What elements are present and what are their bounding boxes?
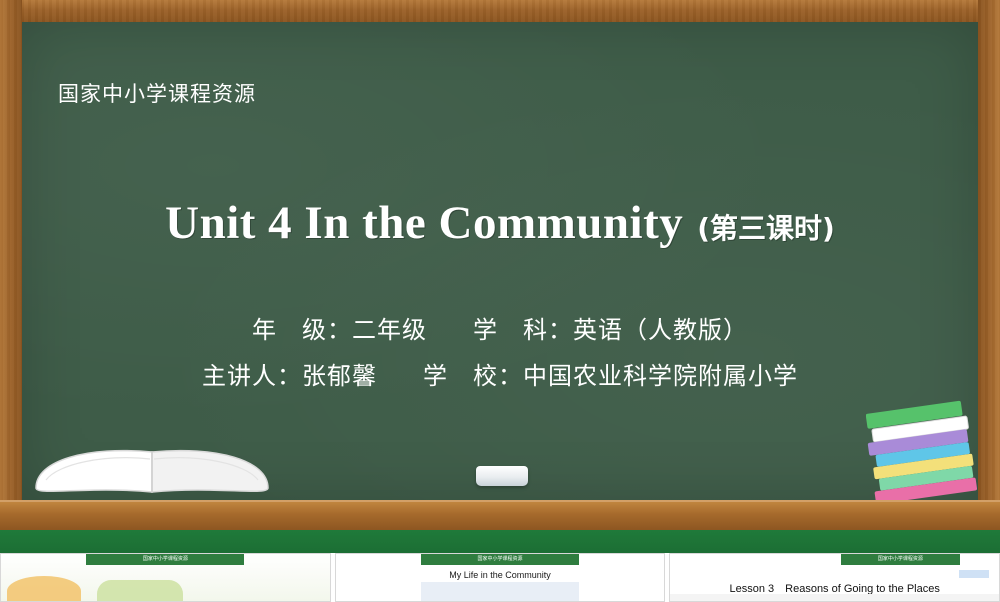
- wood-grain-texture: [0, 0, 1000, 22]
- grade-value: 二年级: [352, 316, 427, 344]
- teacher-label: 主讲人：: [202, 362, 302, 390]
- bottom-green-strip: [0, 530, 1000, 553]
- chalk-tray: [0, 500, 1000, 532]
- subject-value: 英语（人教版）: [573, 316, 748, 344]
- slide-canvas: 国家中小学课程资源 Unit 4 In the Community(第三课时) …: [0, 0, 1000, 553]
- thumbnail-decor-shape: [959, 570, 989, 578]
- chalk-eraser-icon: [476, 466, 528, 486]
- slide-meta-grade-subject: 年 级：二年级学 科：英语（人教版）: [0, 310, 1000, 345]
- brand-label: 国家中小学课程资源: [58, 78, 256, 108]
- thumbnail-decor-shape: [97, 580, 183, 602]
- thumbnail-decor-shape: [7, 576, 81, 602]
- open-book-icon: [28, 418, 288, 500]
- slide-thumbnail[interactable]: 国家中小学课程资源 My Life in the Community: [335, 553, 666, 602]
- slide-thumbnail-strip[interactable]: 国家中小学课程资源 国家中小学课程资源 My Life in the Commu…: [0, 553, 1000, 600]
- grade-label: 年 级：: [252, 316, 352, 344]
- slide-meta-teacher-school: 主讲人：张郁馨学 校：中国农业科学院附属小学: [0, 356, 1000, 391]
- school-label: 学 校：: [423, 362, 523, 390]
- thumbnail-banner: 国家中小学课程资源: [86, 554, 244, 565]
- slide-title: Unit 4 In the Community(第三课时): [0, 196, 1000, 250]
- slide-title-main: Unit 4 In the Community: [165, 197, 683, 249]
- blackboard-frame-top: [0, 0, 1000, 22]
- school-value: 中国农业科学院附属小学: [523, 362, 798, 390]
- wood-grain-texture: [0, 0, 22, 500]
- thumbnail-image-placeholder: [421, 582, 579, 601]
- thumbnail-banner: 国家中小学课程资源: [841, 554, 959, 565]
- blackboard-frame-left: [0, 0, 22, 500]
- slide-thumbnail[interactable]: 国家中小学课程资源 Lesson 3 Reasons of Going to t…: [669, 553, 1000, 602]
- slide-thumbnail[interactable]: 国家中小学课程资源: [0, 553, 331, 602]
- thumbnail-banner: 国家中小学课程资源: [421, 554, 579, 565]
- slide-title-sub: (第三课时): [697, 212, 835, 245]
- teacher-value: 张郁馨: [302, 362, 377, 390]
- subject-label: 学 科：: [473, 316, 573, 344]
- book-stack-icon: [866, 400, 986, 512]
- thumbnail-title: My Life in the Community: [336, 570, 665, 580]
